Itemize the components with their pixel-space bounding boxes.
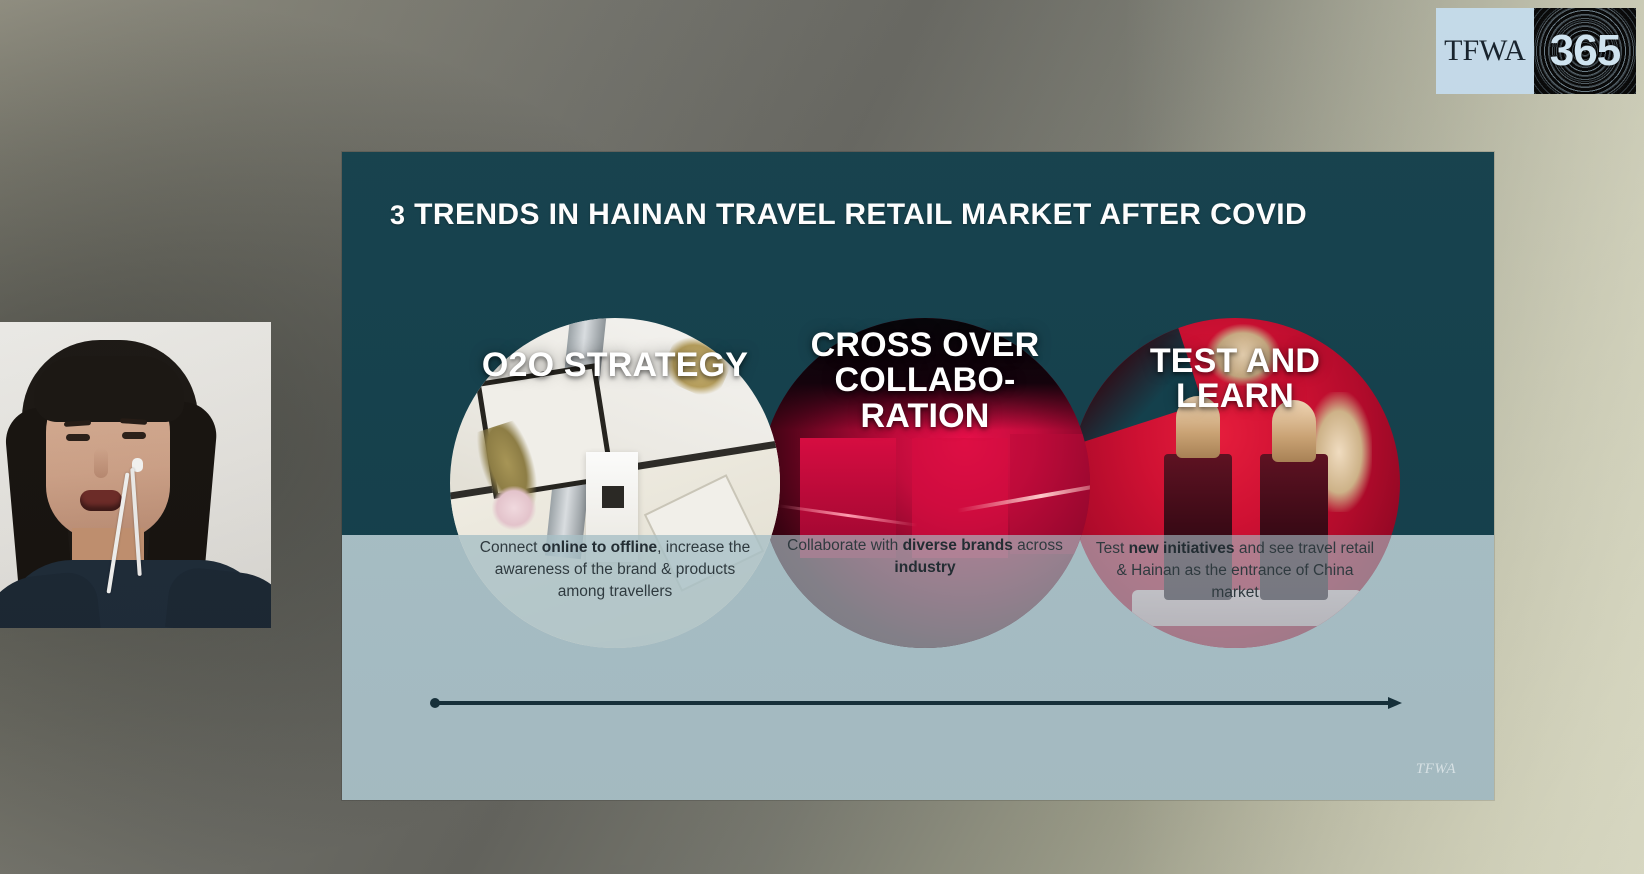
gold-ornament-decoration	[658, 330, 736, 403]
365-badge-text: 365	[1550, 26, 1620, 76]
speaker-video-thumbnail[interactable]	[0, 322, 271, 628]
trend-circle-o2o-strategy[interactable]	[450, 318, 780, 648]
speaker-eye-right	[122, 432, 146, 439]
365-badge-icon: 365	[1534, 8, 1636, 94]
slide-title-number: 3	[390, 200, 405, 230]
circle-lower-tint	[760, 535, 1090, 648]
tfwa-365-logo: TFWA 365	[1436, 8, 1636, 94]
gold-crown-decoration	[1206, 324, 1280, 386]
tfwa-wordmark: TFWA	[1436, 8, 1534, 94]
perfume-cap-decoration-1	[1176, 396, 1220, 458]
speaker-eye-left	[66, 434, 90, 441]
speaker-fringe	[34, 356, 184, 422]
light-streak-decoration	[957, 479, 1090, 512]
speaker-nose	[94, 448, 108, 478]
presentation-slide[interactable]: 3 TRENDS IN HAINAN TRAVEL RETAIL MARKET …	[342, 152, 1494, 800]
tfwa-wordmark-text: TFWA	[1444, 34, 1526, 68]
slide-watermark: TFWA	[1416, 761, 1456, 778]
perfume-cap-decoration-2	[1272, 400, 1316, 462]
dark-top-decoration	[760, 318, 1090, 430]
speaker-mouth	[80, 490, 122, 511]
trend-circle-cross-over-collaboration[interactable]	[760, 318, 1090, 648]
slide-title: 3 TRENDS IN HAINAN TRAVEL RETAIL MARKET …	[390, 198, 1460, 231]
flower-decoration	[492, 486, 536, 530]
webinar-video-frame: TFWA 365 3 TRENDS IN HAINAN	[0, 0, 1644, 874]
circle-lower-tint	[1070, 535, 1400, 648]
trend-circle-test-and-learn[interactable]	[1070, 318, 1400, 648]
bottle-label-decoration	[602, 486, 624, 508]
slide-title-rest: TRENDS IN HAINAN TRAVEL RETAIL MARKET AF…	[405, 198, 1307, 231]
progression-arrow	[430, 697, 1402, 709]
arrow-line	[436, 701, 1394, 705]
arrow-head-icon	[1388, 697, 1402, 709]
circle-lower-tint	[450, 535, 780, 648]
